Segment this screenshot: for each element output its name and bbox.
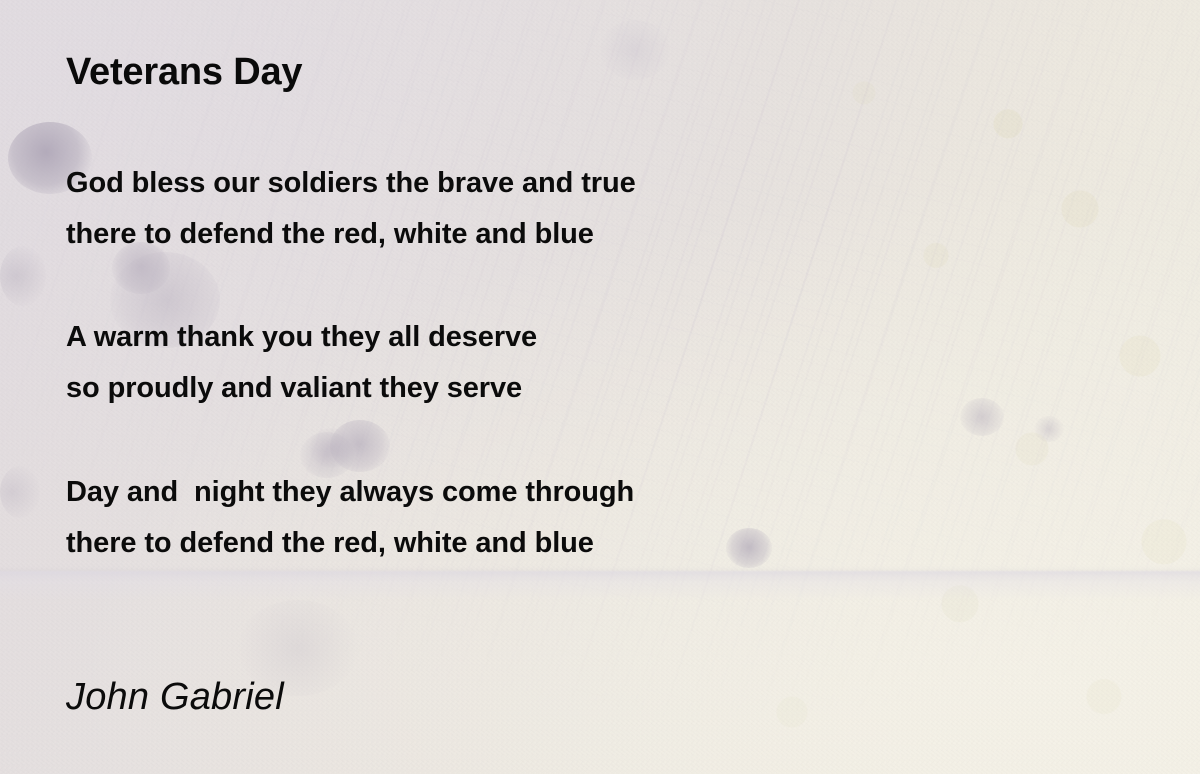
poem-line: God bless our soldiers the brave and tru… [66, 158, 636, 209]
author-signature: John Gabriel [66, 676, 284, 719]
poem-stanza: A warm thank you they all deserve so pro… [66, 312, 537, 414]
poem-stanza: God bless our soldiers the brave and tru… [66, 158, 636, 260]
poem-line: Day and night they always come through [66, 467, 634, 518]
poem-image-canvas: Veterans Day God bless our soldiers the … [0, 0, 1200, 774]
poem-line: there to defend the red, white and blue [66, 518, 634, 569]
poem-line: so proudly and valiant they serve [66, 363, 537, 414]
poem-stanza: Day and night they always come through t… [66, 467, 634, 569]
poem-line: A warm thank you they all deserve [66, 312, 537, 363]
poem-text-block: Veterans Day God bless our soldiers the … [0, 0, 1200, 774]
page-title: Veterans Day [66, 51, 302, 94]
poem-line: there to defend the red, white and blue [66, 209, 636, 260]
